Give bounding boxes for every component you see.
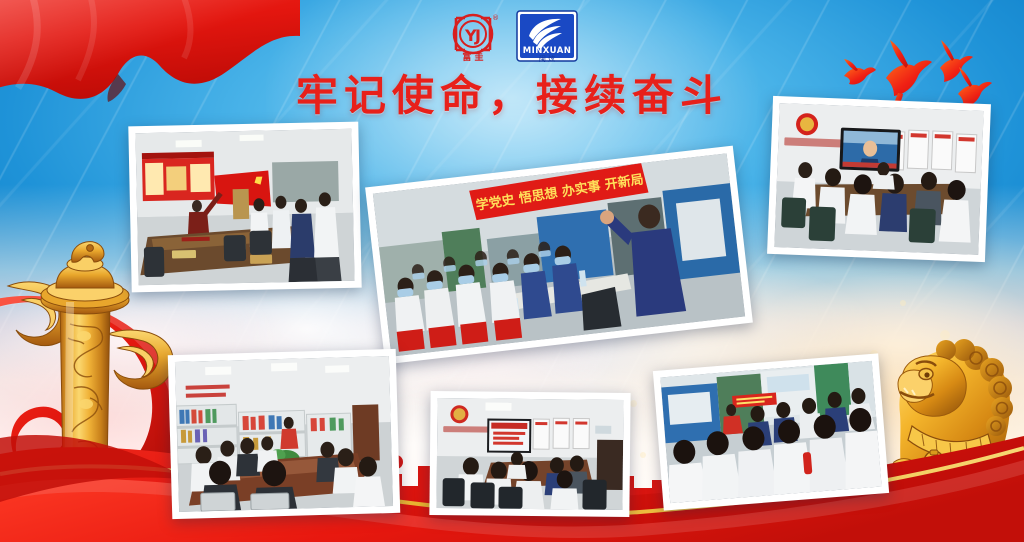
- registered-trademark-icon: ®: [492, 14, 499, 22]
- photo-frame: [135, 129, 354, 285]
- photo-party-oath-ceremony[interactable]: 党员面向党旗宣誓: [128, 122, 361, 293]
- photo-artwork: [175, 356, 393, 512]
- photo-workshop-gathering[interactable]: 车间现场活动: [653, 353, 889, 510]
- photo-artwork: [774, 103, 983, 255]
- photo-projector-meeting[interactable]: 专题学习会议: [429, 391, 630, 517]
- photo-frame: [436, 398, 623, 510]
- poster-title-wrapper: 牢记使命，接续奋斗: [0, 62, 1024, 123]
- photo-artwork: [660, 361, 881, 503]
- yj-logo-icon: Y J ® 富 圭: [445, 10, 501, 62]
- photo-caption: 党员面向党旗宣誓: [139, 285, 140, 286]
- photo-frame: 学党史 悟思想 办实事 开新局: [373, 153, 745, 356]
- photo-frame: [660, 361, 881, 503]
- photo-frame: [175, 356, 393, 512]
- photo-artwork: [135, 129, 354, 285]
- svg-text:J: J: [474, 26, 481, 45]
- poster-title: 牢记使命，接续奋斗: [296, 62, 728, 123]
- minxuan-logo-subtext: 闽 炫: [539, 54, 555, 62]
- yj-company-logo: Y J ® 富 圭: [445, 10, 501, 62]
- logo-row: Y J ® 富 圭 MINXUAN 闽 炫: [0, 8, 1024, 64]
- photo-reading-room-study[interactable]: 职工书屋学习讨论: [168, 349, 400, 519]
- minxuan-company-logo: MINXUAN 闽 炫: [515, 10, 579, 62]
- minxuan-logo-icon: MINXUAN 闽 炫: [515, 10, 579, 62]
- photo-artwork: [436, 398, 623, 510]
- photo-caption: 职工书屋学习讨论: [179, 512, 180, 513]
- photo-caption: 集中收看大会直播: [774, 247, 775, 248]
- photo-frame: [774, 103, 983, 255]
- photo-caption: 车间现场活动: [670, 503, 671, 504]
- poster-canvas: 党员面向党旗宣誓 学党史 悟思想 办实事 开新局: [0, 0, 1024, 542]
- photo-caption: 专题学习会议: [436, 508, 437, 509]
- photo-artwork: 学党史 悟思想 办实事 开新局: [373, 153, 745, 356]
- yj-logo-subtext: 富 圭: [462, 51, 483, 62]
